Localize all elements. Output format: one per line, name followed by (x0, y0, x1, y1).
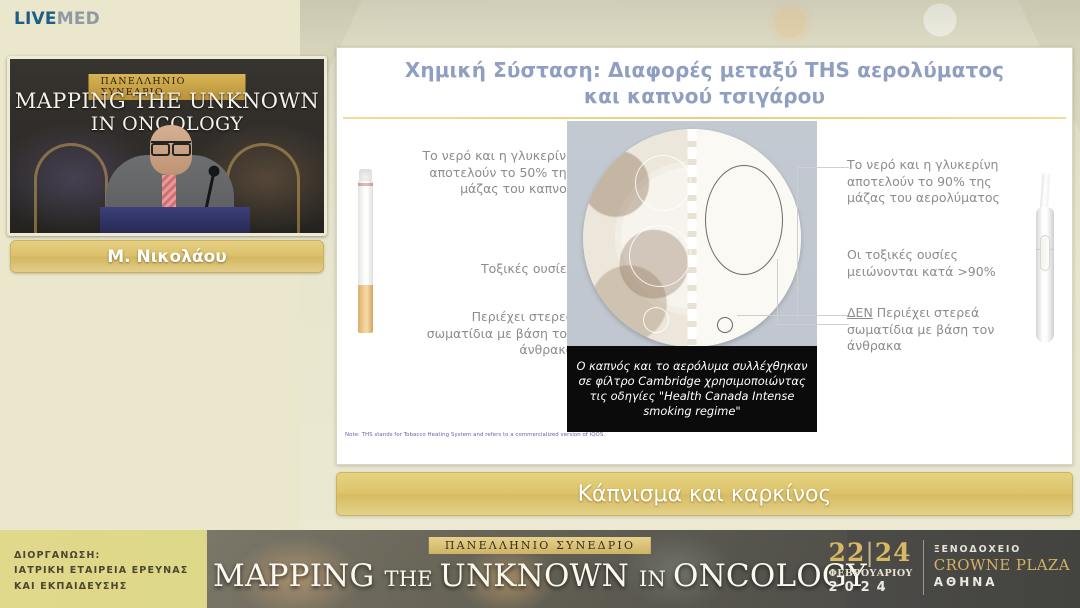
glasses-icon (151, 141, 191, 150)
logo-live-text: LIVE (14, 9, 57, 29)
date-range: 22|24 (829, 540, 913, 565)
iqos-device-icon (1036, 173, 1054, 343)
pad-divider (688, 129, 697, 347)
footer-title-part-unknown: UNKNOWN (440, 558, 639, 594)
session-title-label: Κάπνισμα και καρκίνος (578, 482, 832, 507)
date-to: 24 (875, 538, 912, 567)
logo-med-text: MED (57, 9, 100, 29)
annotation-left-water-glycerin: Το νερό και η γλυκερίνη αποτελούν το 50%… (409, 148, 574, 198)
conference-footer-banner: ΔΙΟΡΓΑΝΩΣΗ: ΙΑΤΡΙΚΗ ΕΤΑΙΡΕΙΑ ΕΡΕΥΝΑΣ ΚΑΙ… (0, 530, 1080, 608)
slide-caption-box: Ο καπνός και το αερόλυμα συλλέχθηκαν σε … (567, 346, 817, 432)
connector-line-right-3 (737, 315, 849, 317)
annotation-right-toxic-reduced: Οι τοξικές ουσίες μειώνονται κατά >90% (847, 247, 1027, 280)
cigarette-icon (358, 169, 373, 333)
pad-marker-ellipse-4 (705, 165, 783, 275)
iqos-button (1040, 235, 1050, 271)
slide-title: Χημική Σύσταση: Διαφορές μεταξύ THS αερο… (337, 48, 1072, 115)
footer-details: 22|24 ΦΕΒΡΟΥΑΡΙΟΥ 2024 ΞΕΝΟΔΟΧΕΙΟ CROWNE… (829, 540, 1070, 595)
pad-marker-circle-1 (635, 155, 691, 211)
speaker-name-label: Μ. Νικολάου (107, 247, 227, 267)
cigarette-paper (358, 181, 373, 285)
footer-congress-tag: ΠΑΝΕΛΛΗΝΙΟ ΣΥΝΕΔΡΙΟ (429, 537, 651, 554)
cigarette-filter (358, 285, 373, 333)
footer-title-part-the: THE (384, 567, 439, 591)
annotation-right-water-glycerin: Το νερό και η γλυκερίνη αποτελούν το 90%… (847, 157, 1027, 207)
footer-title-part-mapping: MAPPING (213, 558, 384, 594)
annotation-right-no-solid-particles: ΔΕΝ Περιέχει στερεά σωματίδια με βάση το… (847, 305, 1027, 355)
slide-footnote: Note: THS stands for Tobacco Heating Sys… (345, 432, 605, 438)
page-background: LIVEMED ΠΑΝΕΛΛΗΝΙΟ ΣΥΝΕΔΡΙΟ MAPPING THE … (0, 0, 1080, 608)
annotation-right-den-emphasis: ΔΕΝ (847, 305, 873, 320)
venue-name: CROWNE PLAZA (934, 556, 1070, 574)
video-banner-title-line1: MAPPING THE UNKNOWN (10, 89, 324, 113)
speaker-name-plate: Μ. Νικολάου (10, 240, 324, 273)
conference-venue: ΞΕΝΟΔΟΧΕΙΟ CROWNE PLAZA ΑΘΗΝΑ (934, 540, 1070, 589)
iqos-body (1036, 207, 1054, 343)
livemed-logo: LIVEMED (14, 9, 100, 29)
footer-title-part-in: IN (639, 567, 673, 591)
podium (100, 207, 250, 233)
conference-month: ΦΕΒΡΟΥΑΡΙΟΥ (829, 568, 913, 579)
venue-label: ΞΕΝΟΔΟΧΕΙΟ (934, 544, 1070, 555)
venue-city: ΑΘΗΝΑ (934, 575, 1070, 589)
cigarette-band (358, 183, 373, 186)
date-separator: | (865, 538, 874, 567)
slide-body: Το νερό και η γλυκερίνη αποτελούν το 50%… (337, 119, 1072, 442)
presentation-slide[interactable]: Χημική Σύσταση: Διαφορές μεταξύ THS αερο… (336, 47, 1073, 465)
backdrop-arch-left (34, 143, 108, 236)
annotation-left-solid-particles: Περιέχει στερεά σωματίδια με βάση τον άν… (409, 309, 574, 359)
conference-year: 2024 (829, 580, 913, 595)
session-title-bar: Κάπνισμα και καρκίνος (336, 472, 1073, 516)
speaker-video-player[interactable]: ΠΑΝΕΛΛΗΝΙΟ ΣΥΝΕΔΡΙΟ MAPPING THE UNKNOWN … (7, 56, 327, 236)
pad-marker-circle-3 (643, 307, 669, 333)
conference-dates: 22|24 ΦΕΒΡΟΥΑΡΙΟΥ 2024 (829, 540, 924, 595)
date-from: 22 (829, 538, 866, 567)
pad-marker-circle-2 (629, 225, 691, 287)
annotation-left-toxic-substances: Τοξικές ουσίες (409, 261, 574, 278)
